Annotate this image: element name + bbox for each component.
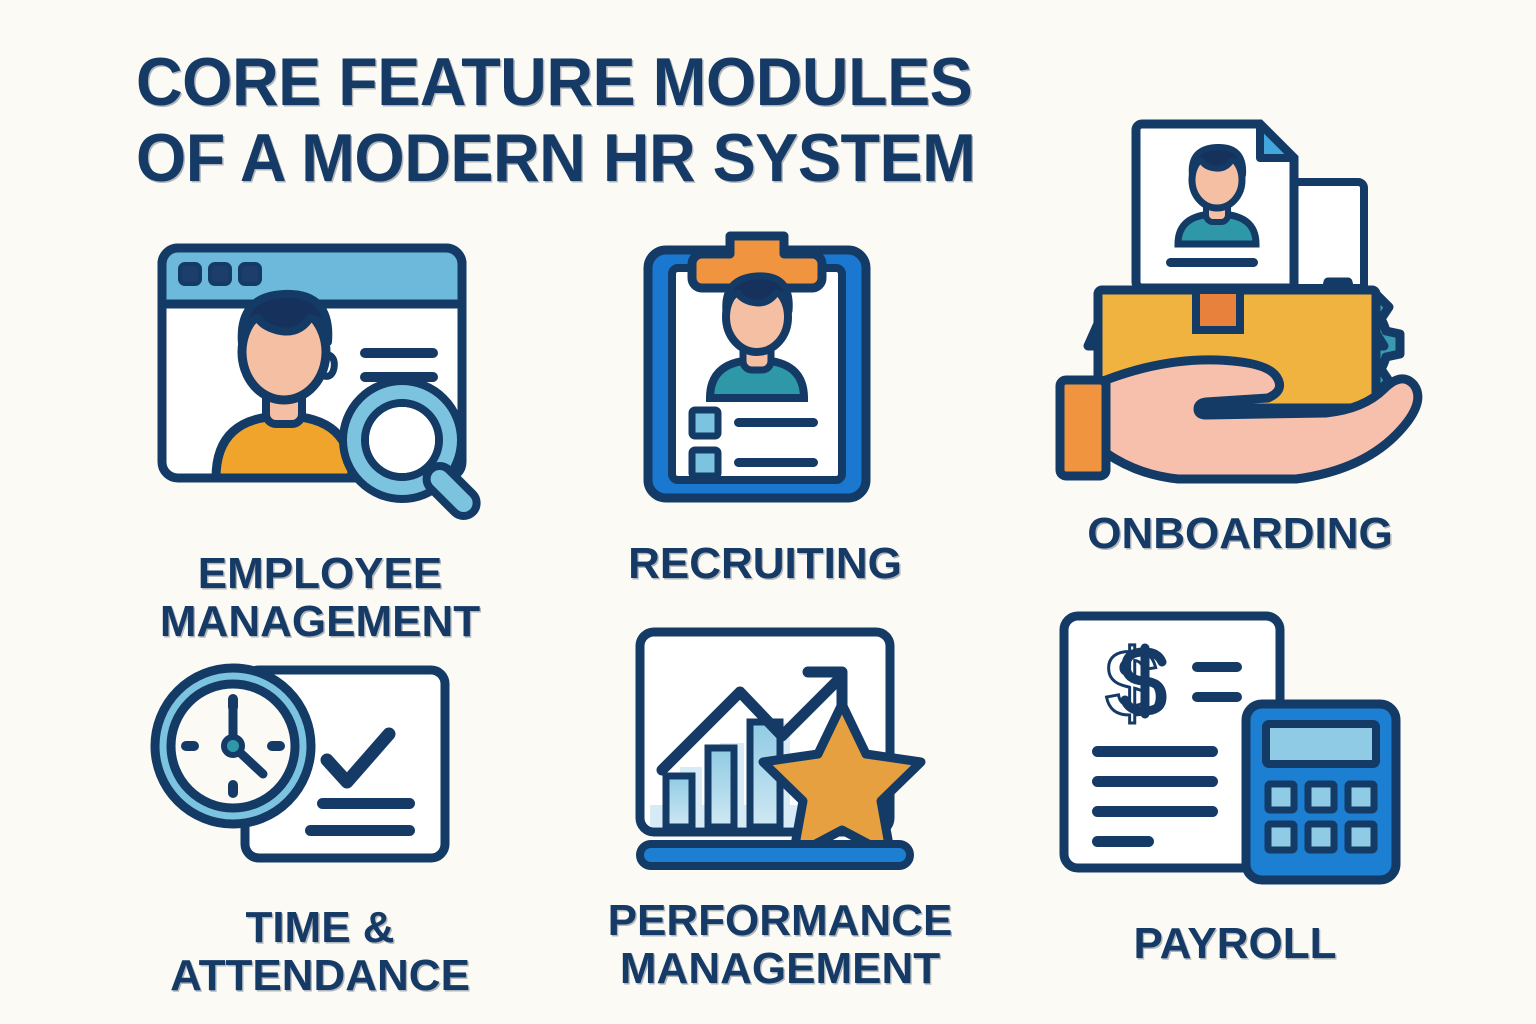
module-card-employee-management[interactable]: EMPLOYEE MANAGEMENT — [100, 236, 540, 645]
module-card-payroll[interactable]: $ — [1020, 600, 1450, 968]
module-card-onboarding[interactable]: ONBOARDING — [1010, 108, 1470, 558]
module-label-recruiting: RECRUITING — [628, 540, 902, 588]
clock-checklist-icon — [145, 648, 495, 878]
module-card-performance-management[interactable]: PERFORMANCE MANAGEMENT — [570, 618, 990, 992]
page-title: CORE FEATURE MODULES OF A MODERN HR SYST… — [136, 44, 991, 196]
payslip-calculator-icon: $ — [1050, 600, 1420, 890]
module-card-time-attendance[interactable]: TIME & ATTENDANCE — [95, 648, 545, 999]
module-label-onboarding: ONBOARDING — [1087, 510, 1393, 558]
module-card-recruiting[interactable]: RECRUITING — [575, 228, 955, 588]
module-label-time-attendance: TIME & ATTENDANCE — [170, 904, 470, 999]
hand-box-document-gear-icon — [1050, 108, 1430, 488]
page-title-line-1: CORE FEATURE MODULES — [136, 44, 991, 120]
module-label-payroll: PAYROLL — [1134, 920, 1337, 968]
growth-chart-star-icon — [620, 618, 940, 873]
module-label-employee-management: EMPLOYEE MANAGEMENT — [160, 550, 480, 645]
module-label-performance-management: PERFORMANCE MANAGEMENT — [608, 897, 953, 992]
page-title-line-2: OF A MODERN HR SYSTEM — [136, 120, 991, 196]
browser-profile-search-icon — [150, 236, 490, 526]
clipboard-candidate-icon — [620, 228, 910, 516]
infographic-canvas: CORE FEATURE MODULES OF A MODERN HR SYST… — [0, 0, 1536, 1024]
